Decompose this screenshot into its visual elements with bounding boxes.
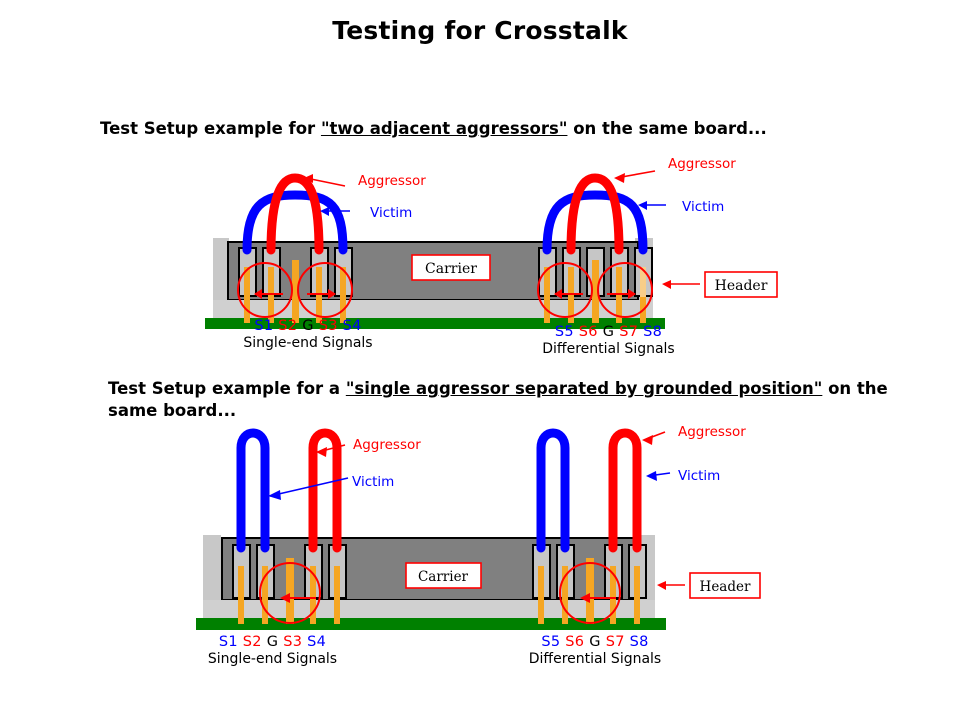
heading-1-quoted: "two adjacent aggressors" bbox=[321, 119, 568, 138]
pin-label: S6 bbox=[579, 324, 598, 340]
annotation-aggressor-right: Aggressor bbox=[614, 156, 736, 183]
caption-left-group-2: S1 S2 G S3 S4 Single-end Signals bbox=[180, 634, 365, 667]
slide-title: Testing for Crosstalk bbox=[0, 16, 960, 45]
pin-label: S3 bbox=[319, 318, 338, 334]
heading-1-before: Test Setup example for bbox=[100, 119, 321, 138]
carrier-label: Carrier bbox=[425, 261, 477, 277]
pin-label: S8 bbox=[643, 324, 662, 340]
victim-right-label: Victim bbox=[682, 199, 724, 215]
pin-label: S2 bbox=[278, 318, 297, 334]
caption-text: Differential Signals bbox=[500, 651, 690, 667]
caption-right-group-1: S5 S6 G S7 S8 Differential Signals bbox=[516, 324, 701, 357]
victim-cable-left bbox=[241, 433, 265, 548]
pin-label: S5 bbox=[541, 634, 560, 650]
caption-text: Differential Signals bbox=[516, 341, 701, 357]
pin-label: S7 bbox=[606, 634, 625, 650]
victim-cable-right bbox=[541, 433, 565, 548]
pin-label: S6 bbox=[565, 634, 584, 650]
crosstalk-diagram-separated-aggressor: Aggressor Victim Aggressor Victim bbox=[0, 418, 960, 633]
aggressor-left-label: Aggressor bbox=[353, 437, 421, 453]
aggressor-cable-right bbox=[571, 178, 619, 250]
diagram-2-svg: Aggressor Victim Aggressor Victim bbox=[0, 418, 960, 633]
aggressor-cable-right bbox=[613, 433, 637, 548]
pin-label: S4 bbox=[343, 318, 362, 334]
header-callout: Header bbox=[662, 272, 777, 297]
pin-label: S4 bbox=[307, 634, 326, 650]
annotation-aggressor-right: Aggressor bbox=[642, 424, 746, 445]
pin-label: S5 bbox=[555, 324, 574, 340]
carrier-callout: Carrier bbox=[412, 255, 490, 280]
aggressor-right-label: Aggressor bbox=[668, 156, 736, 172]
victim-right-label: Victim bbox=[678, 468, 720, 484]
caption-left-group-1: S1 S2 G S3 S4 Single-end Signals bbox=[218, 318, 398, 351]
caption-text: Single-end Signals bbox=[180, 651, 365, 667]
header-label: Header bbox=[715, 278, 768, 294]
pin-label: G bbox=[589, 634, 601, 650]
pin-label: S1 bbox=[254, 318, 273, 334]
pin-labels-right-1: S5 S6 G S7 S8 bbox=[516, 324, 701, 340]
pin-label: S8 bbox=[630, 634, 649, 650]
header-body-strip bbox=[213, 300, 653, 318]
aggressor-cable-left bbox=[271, 178, 319, 250]
pin-label: S1 bbox=[219, 634, 238, 650]
pin-label: S3 bbox=[283, 634, 302, 650]
carrier-callout: Carrier bbox=[406, 563, 481, 588]
pin-label: G bbox=[302, 318, 314, 334]
annotation-victim-left: Victim bbox=[268, 474, 394, 500]
pin-label: G bbox=[267, 634, 279, 650]
header-post-left bbox=[213, 238, 229, 308]
header-label: Header bbox=[700, 579, 751, 595]
header-post-left bbox=[203, 535, 221, 605]
aggressor-right-label: Aggressor bbox=[678, 424, 746, 440]
heading-1-after: on the same board... bbox=[567, 119, 766, 138]
diagram-1-svg: Aggressor Victim Aggressor Victim bbox=[0, 150, 960, 350]
setup-heading-2: Test Setup example for a "single aggress… bbox=[108, 378, 898, 422]
carrier-label: Carrier bbox=[418, 569, 469, 585]
heading-2-before: Test Setup example for a bbox=[108, 379, 346, 398]
caption-right-group-2: S5 S6 G S7 S8 Differential Signals bbox=[500, 634, 690, 667]
heading-2-quoted: "single aggressor separated by grounded … bbox=[346, 379, 823, 398]
crosstalk-diagram-adjacent-aggressors: Aggressor Victim Aggressor Victim bbox=[0, 150, 960, 350]
pin-label: S2 bbox=[243, 634, 262, 650]
slide-root: Testing for Crosstalk Test Setup example… bbox=[0, 0, 960, 720]
pin-labels-right-2: S5 S6 G S7 S8 bbox=[500, 634, 690, 650]
caption-text: Single-end Signals bbox=[218, 335, 398, 351]
annotation-victim-right: Victim bbox=[646, 468, 720, 484]
victim-left-label: Victim bbox=[352, 474, 394, 490]
header-callout: Header bbox=[657, 573, 760, 598]
pin-label: G bbox=[603, 324, 615, 340]
setup-heading-1: Test Setup example for "two adjacent agg… bbox=[100, 118, 780, 140]
pin-label: S7 bbox=[619, 324, 638, 340]
victim-left-label: Victim bbox=[370, 205, 412, 221]
aggressor-left-label: Aggressor bbox=[358, 173, 426, 189]
pin-labels-left-1: S1 S2 G S3 S4 bbox=[218, 318, 398, 334]
annotation-victim-right: Victim bbox=[638, 199, 724, 215]
annotation-aggressor-left: Aggressor bbox=[304, 173, 426, 189]
pin-labels-left-2: S1 S2 G S3 S4 bbox=[180, 634, 365, 650]
